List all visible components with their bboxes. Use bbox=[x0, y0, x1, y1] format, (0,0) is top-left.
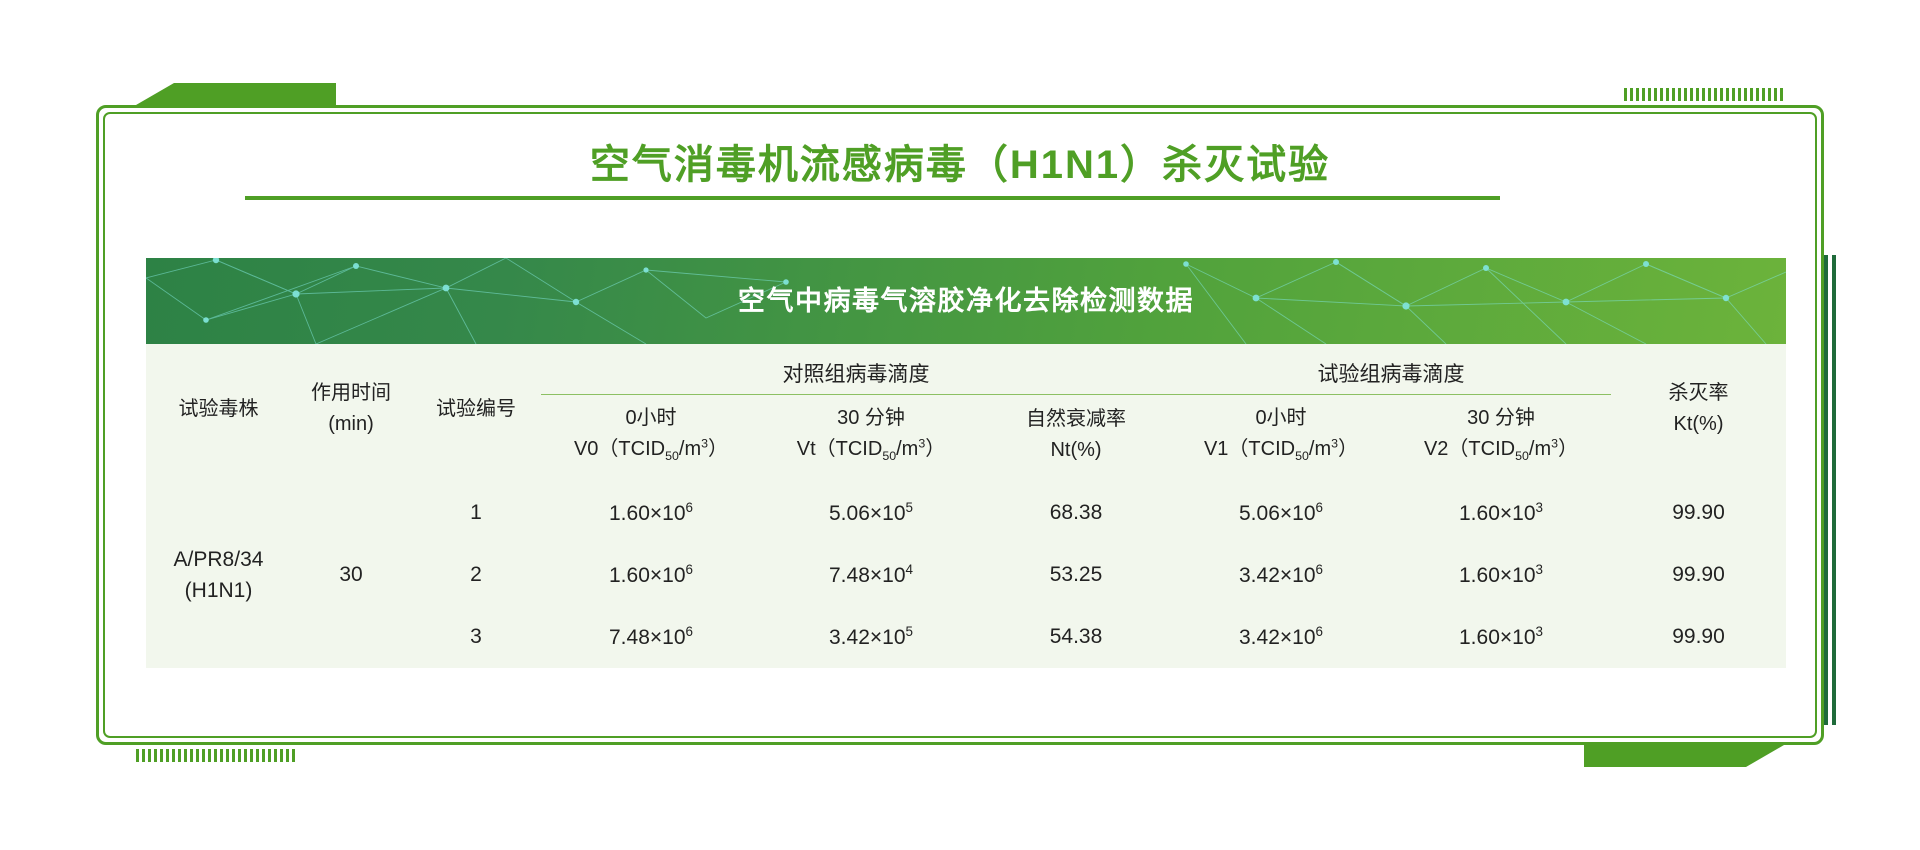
dotted-bar-bottom-left bbox=[136, 749, 296, 762]
cell-strain: A/PR8/34 (H1N1) bbox=[146, 482, 291, 668]
cell-vt: 3.42×105 bbox=[761, 606, 981, 668]
cell-kt: 99.90 bbox=[1611, 482, 1786, 544]
vertical-accent-inner bbox=[1832, 255, 1836, 725]
col-header-kill-rate: 杀灭率 Kt(%) bbox=[1611, 344, 1786, 482]
col-header-strain: 试验毒株 bbox=[146, 344, 291, 482]
col-header-v2: 30 分钟 V2（TCID50/m3） bbox=[1391, 395, 1611, 483]
col-header-test-no: 试验编号 bbox=[411, 344, 541, 482]
cell-nt: 68.38 bbox=[981, 482, 1171, 544]
section-banner: 空气中病毒气溶胶净化去除检测数据 bbox=[146, 258, 1786, 344]
cell-test-no: 2 bbox=[411, 544, 541, 606]
title-underline-rule bbox=[245, 196, 1500, 200]
dotted-bar-top-right bbox=[1624, 88, 1784, 101]
col-header-nt: 自然衰减率 Nt(%) bbox=[981, 395, 1171, 483]
cell-vt: 5.06×105 bbox=[761, 482, 981, 544]
page-title: 空气消毒机流感病毒（H1N1）杀灭试验 bbox=[0, 132, 1920, 190]
cell-test-no: 3 bbox=[411, 606, 541, 668]
cell-kt: 99.90 bbox=[1611, 544, 1786, 606]
corner-ribbon-bottom-right bbox=[1584, 745, 1784, 767]
cell-v1: 3.42×106 bbox=[1171, 544, 1391, 606]
cell-vt: 7.48×104 bbox=[761, 544, 981, 606]
table-row: A/PR8/34 (H1N1) 30 1 1.60×106 5.06×105 6… bbox=[146, 482, 1786, 544]
group-header-control: 对照组病毒滴度 bbox=[541, 344, 1171, 395]
cell-v1: 3.42×106 bbox=[1171, 606, 1391, 668]
results-table: 试验毒株 作用时间 (min) 试验编号 对照组病毒滴度 试验组病毒滴度 杀灭率… bbox=[146, 344, 1786, 668]
cell-v2: 1.60×103 bbox=[1391, 482, 1611, 544]
col-header-v0: 0小时 V0（TCID50/m3） bbox=[541, 395, 761, 483]
table-body: A/PR8/34 (H1N1) 30 1 1.60×106 5.06×105 6… bbox=[146, 482, 1786, 668]
col-header-vt: 30 分钟 Vt（TCID50/m3） bbox=[761, 395, 981, 483]
cell-v0: 7.48×106 bbox=[541, 606, 761, 668]
table-group-header-row: 试验毒株 作用时间 (min) 试验编号 对照组病毒滴度 试验组病毒滴度 杀灭率… bbox=[146, 344, 1786, 395]
cell-test-no: 1 bbox=[411, 482, 541, 544]
group-header-test: 试验组病毒滴度 bbox=[1171, 344, 1611, 395]
cell-kt: 99.90 bbox=[1611, 606, 1786, 668]
cell-nt: 53.25 bbox=[981, 544, 1171, 606]
col-header-contact-time: 作用时间 (min) bbox=[291, 344, 411, 482]
col-header-v1: 0小时 V1（TCID50/m3） bbox=[1171, 395, 1391, 483]
cell-v0: 1.60×106 bbox=[541, 482, 761, 544]
cell-v2: 1.60×103 bbox=[1391, 606, 1611, 668]
corner-ribbon-top-left bbox=[136, 83, 336, 105]
cell-v0: 1.60×106 bbox=[541, 544, 761, 606]
cell-nt: 54.38 bbox=[981, 606, 1171, 668]
vertical-accent-outer bbox=[1824, 255, 1828, 725]
cell-v1: 5.06×106 bbox=[1171, 482, 1391, 544]
cell-v2: 1.60×103 bbox=[1391, 544, 1611, 606]
cell-contact-time: 30 bbox=[291, 482, 411, 668]
banner-title: 空气中病毒气溶胶净化去除检测数据 bbox=[146, 258, 1786, 344]
